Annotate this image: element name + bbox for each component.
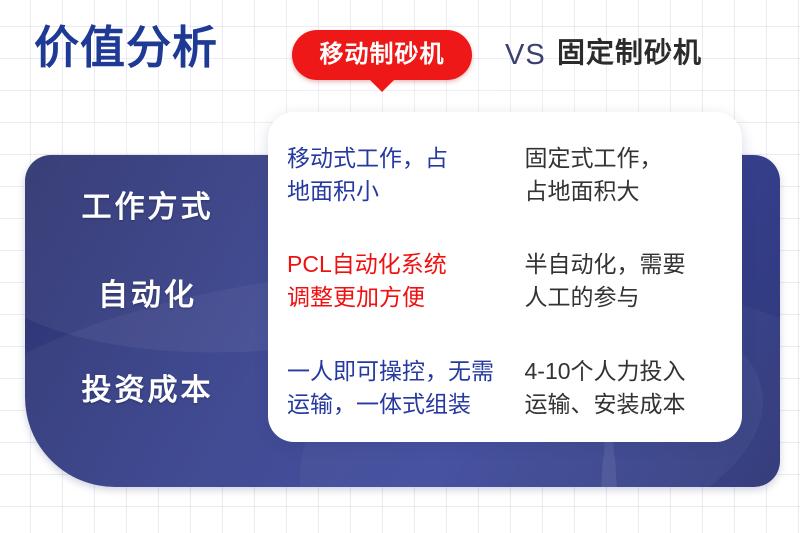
cell-line: 移动式工作，占 [287, 142, 497, 175]
vs-separator: VS [505, 41, 546, 70]
page-title: 价值分析 [34, 25, 218, 70]
cell-line: 一人即可操控，无需 [287, 355, 497, 388]
cell-line: 4-10个人力投入 [525, 355, 740, 388]
badge-label: 移动制砂机 [320, 43, 445, 67]
cell-line: 运输、安装成本 [525, 388, 740, 421]
mobile-machine-badge: 移动制砂机 [292, 30, 472, 80]
badge-pointer-icon [369, 79, 395, 92]
cell-line: 地面积小 [287, 175, 497, 208]
cell-line: PCL自动化系统 [287, 248, 497, 281]
cell-fixed-investment-cost: 4-10个人力投入 运输、安装成本 [525, 355, 740, 420]
row-label-investment-cost: 投资成本 [25, 376, 270, 406]
infographic-root: 价值分析 移动制砂机 VS 固定制砂机 [0, 0, 800, 533]
row-label-column: 工作方式 自动化 投资成本 [25, 155, 270, 487]
mobile-machine-column: 移动式工作，占 地面积小 PCL自动化系统 调整更加方便 一人即可操控，无需 运… [268, 112, 503, 442]
cell-line: 人工的参与 [525, 281, 740, 314]
cell-line: 运输，一体式组装 [287, 388, 497, 421]
cell-line: 半自动化，需要 [525, 248, 740, 281]
fixed-machine-column: 固定式工作， 占地面积大 半自动化，需要 人工的参与 4-10个人力投入 运输、… [503, 112, 743, 442]
cell-line: 占地面积大 [525, 175, 740, 208]
row-label-work-mode: 工作方式 [25, 193, 270, 223]
fixed-machine-title: 固定制砂机 [557, 39, 702, 67]
row-label-automation: 自动化 [25, 281, 270, 311]
cell-line: 调整更加方便 [287, 281, 497, 314]
comparison-card: 移动式工作，占 地面积小 PCL自动化系统 调整更加方便 一人即可操控，无需 运… [268, 112, 742, 442]
cell-fixed-work-mode: 固定式工作， 占地面积大 [525, 142, 740, 207]
cell-mobile-investment-cost: 一人即可操控，无需 运输，一体式组装 [287, 355, 497, 420]
cell-mobile-automation: PCL自动化系统 调整更加方便 [287, 248, 497, 313]
cell-fixed-automation: 半自动化，需要 人工的参与 [525, 248, 740, 313]
header: 价值分析 移动制砂机 VS 固定制砂机 [0, 0, 800, 110]
cell-mobile-work-mode: 移动式工作，占 地面积小 [287, 142, 497, 207]
cell-line: 固定式工作， [525, 142, 740, 175]
badge-body: 移动制砂机 [292, 30, 472, 80]
